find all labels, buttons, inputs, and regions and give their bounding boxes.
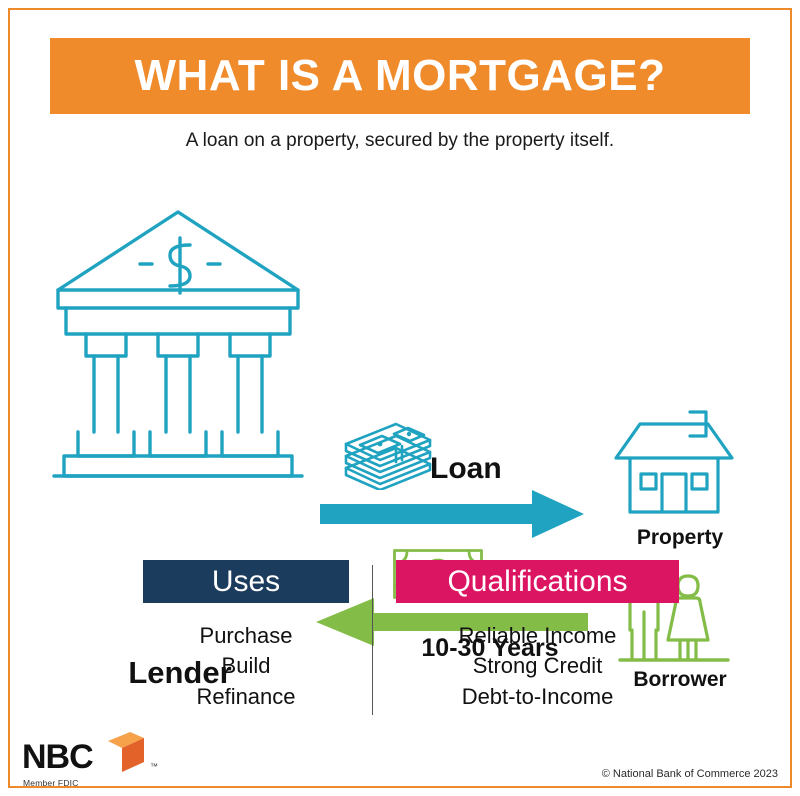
page-title: WHAT IS A MORTGAGE? <box>135 54 666 98</box>
arrow-right-icon <box>320 490 584 538</box>
nbc-wordmark: NBC <box>22 740 93 774</box>
nbc-cube-icon <box>100 728 148 776</box>
qualifications-panel: Qualifications Reliable Income Strong Cr… <box>396 560 679 712</box>
uses-panel-title: Uses <box>212 567 280 597</box>
diagram-area: Lender Loan <box>0 190 800 520</box>
list-item: Build <box>143 651 349 681</box>
panels-area: Uses Purchase Build Refinance Qualificat… <box>0 560 800 720</box>
qualifications-panel-title: Qualifications <box>447 567 627 597</box>
property-label: Property <box>570 526 790 550</box>
list-item: Reliable Income <box>396 621 679 651</box>
copyright-text: © National Bank of Commerce 2023 <box>602 768 778 780</box>
qualifications-list: Reliable Income Strong Credit Debt-to-In… <box>396 603 679 712</box>
nbc-trademark: ™ <box>150 762 158 771</box>
member-fdic-label: Member FDIC <box>23 778 79 788</box>
list-item: Purchase <box>143 621 349 651</box>
list-item: Debt-to-Income <box>396 682 679 712</box>
uses-panel-header: Uses <box>143 560 349 603</box>
bank-building-icon <box>48 200 308 480</box>
money-stack-icon <box>340 418 436 490</box>
nbc-logo: NBC ™ Member FDIC <box>22 728 172 788</box>
panel-divider <box>372 565 373 715</box>
uses-panel: Uses Purchase Build Refinance <box>143 560 349 712</box>
qualifications-panel-header: Qualifications <box>396 560 679 603</box>
infographic-page: WHAT IS A MORTGAGE? A loan on a property… <box>0 0 800 796</box>
list-item: Strong Credit <box>396 651 679 681</box>
page-subtitle: A loan on a property, secured by the pro… <box>0 130 800 152</box>
list-item: Refinance <box>143 682 349 712</box>
loan-label: Loan <box>430 452 502 486</box>
house-icon <box>612 408 736 518</box>
uses-list: Purchase Build Refinance <box>143 603 349 712</box>
title-banner: WHAT IS A MORTGAGE? <box>50 38 750 114</box>
footer: NBC ™ Member FDIC © National Bank of Com… <box>0 714 800 796</box>
